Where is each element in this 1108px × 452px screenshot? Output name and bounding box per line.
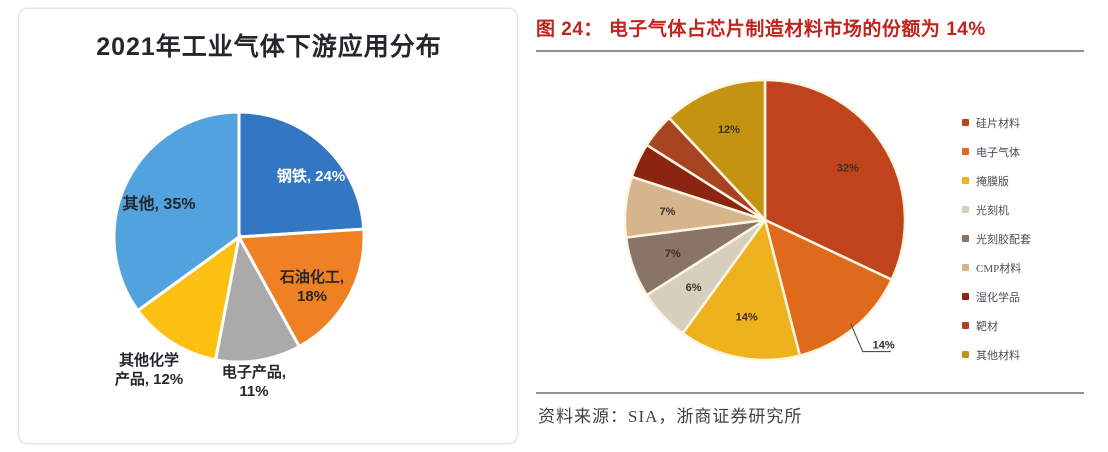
- legend-item-label: 湿化学品: [976, 289, 1020, 305]
- legend-item-9[interactable]: 其他材料: [962, 340, 1092, 369]
- source-divider: [536, 392, 1084, 394]
- pie-data-label-5: 7%: [665, 248, 681, 260]
- legend-swatch-icon: [962, 351, 969, 358]
- callout-label: 14%: [873, 340, 895, 352]
- legend-item-2[interactable]: 电子气体: [962, 137, 1092, 166]
- chip-material-market-share-pie: 32%14%6%7%7%12%14%: [600, 62, 930, 392]
- pie-data-label-9: 12%: [718, 124, 740, 136]
- figure-title-text: 电子气体占芯片制造材料市场的份额为 14%: [609, 19, 986, 40]
- pie-data-label-6: 7%: [659, 206, 675, 218]
- legend-item-4[interactable]: 光刻机: [962, 195, 1092, 224]
- pie-data-label-4: 6%: [686, 282, 702, 294]
- legend-item-5[interactable]: 光刻胶配套: [962, 224, 1092, 253]
- legend-swatch-icon: [962, 148, 969, 155]
- legend-item-label: 硅片材料: [976, 115, 1020, 131]
- left-chart-title: 2021年工业气体下游应用分布: [19, 27, 519, 63]
- legend-item-label: 靶材: [976, 318, 998, 334]
- legend-swatch-icon: [962, 322, 969, 329]
- legend-item-8[interactable]: 靶材: [962, 311, 1092, 340]
- legend-swatch-icon: [962, 119, 969, 126]
- legend-swatch-icon: [962, 264, 969, 271]
- title-divider: [536, 50, 1084, 52]
- legend-item-label: 掩膜版: [976, 173, 1009, 189]
- legend-item-label: 光刻机: [976, 202, 1009, 218]
- legend-item-label: 其他材料: [976, 347, 1020, 363]
- legend-swatch-icon: [962, 235, 969, 242]
- pie-data-label-5: 其他, 35%: [123, 194, 196, 213]
- chart-legend: 硅片材料电子气体掩膜版光刻机光刻胶配套CMP材料湿化学品靶材其他材料: [962, 108, 1092, 369]
- legend-item-label: CMP材料: [976, 260, 1021, 276]
- pie-data-label-1: 32%: [837, 162, 859, 174]
- pie-data-label-3: 电子产品,11%: [222, 363, 286, 400]
- figure-number: 图 24：: [536, 19, 603, 40]
- legend-item-label: 光刻胶配套: [976, 231, 1031, 247]
- legend-swatch-icon: [962, 206, 969, 213]
- pie-data-label-1: 钢铁, 24%: [277, 167, 345, 185]
- pie-data-label-4: 其他化学产品, 12%: [115, 351, 183, 388]
- legend-item-6[interactable]: CMP材料: [962, 253, 1092, 282]
- legend-swatch-icon: [962, 293, 969, 300]
- source-note: 资料来源：SIA，浙商证券研究所: [538, 402, 802, 427]
- industrial-gas-downstream-pie: 钢铁, 24%石油化工,18%电子产品,11%其他化学产品, 12%其他, 35…: [49, 77, 489, 437]
- figure-title: 图 24：电子气体占芯片制造材料市场的份额为 14%: [536, 14, 1092, 41]
- left-chart-card: 2021年工业气体下游应用分布 钢铁, 24%石油化工,18%电子产品,11%其…: [18, 8, 518, 444]
- legend-swatch-icon: [962, 177, 969, 184]
- right-chart-card: 图 24：电子气体占芯片制造材料市场的份额为 14% 32%14%6%7%7%1…: [530, 0, 1090, 452]
- legend-item-1[interactable]: 硅片材料: [962, 108, 1092, 137]
- legend-item-label: 电子气体: [976, 144, 1020, 160]
- legend-item-3[interactable]: 掩膜版: [962, 166, 1092, 195]
- figure-page: 2021年工业气体下游应用分布 钢铁, 24%石油化工,18%电子产品,11%其…: [0, 0, 1108, 452]
- legend-item-7[interactable]: 湿化学品: [962, 282, 1092, 311]
- pie-data-label-3: 14%: [736, 311, 758, 323]
